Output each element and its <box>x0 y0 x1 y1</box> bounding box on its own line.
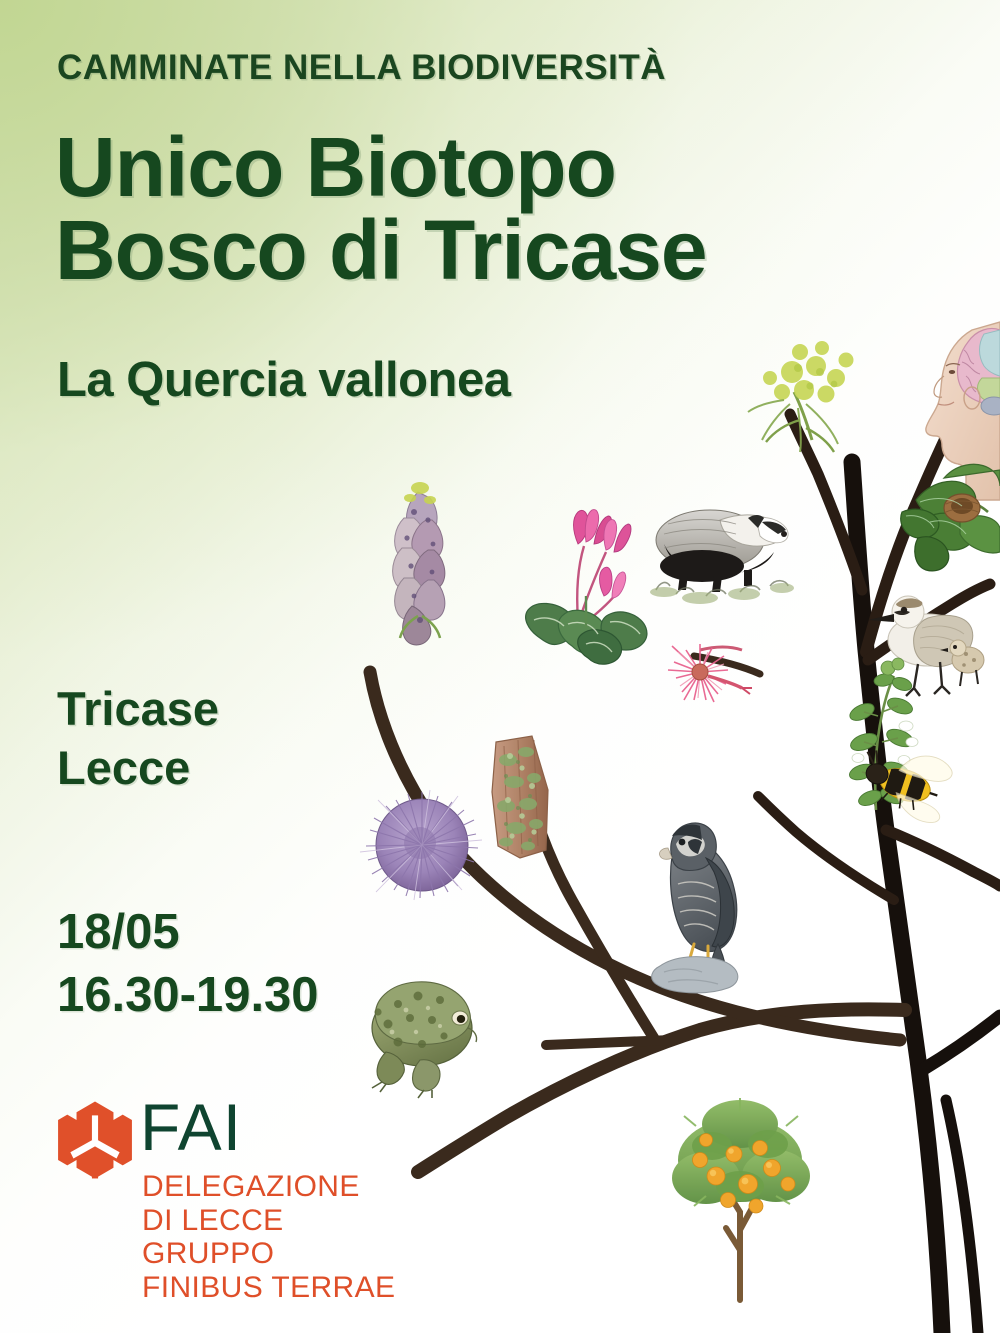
poster-subtitle: La Quercia vallonea <box>57 352 511 408</box>
poster-root: CAMMINATE NELLA BIODIVERSITÀ Unico Bioto… <box>0 0 1000 1333</box>
poster-title-line-2: Bosco di Tricase <box>55 209 707 292</box>
poster-title: Unico Biotopo Bosco di Tricase <box>55 126 707 292</box>
event-date: 18/05 <box>57 901 319 964</box>
poster-kicker: CAMMINATE NELLA BIODIVERSITÀ <box>57 48 666 88</box>
poster-datetime: 18/05 16.30-19.30 <box>57 901 319 1026</box>
poster-title-line-1: Unico Biotopo <box>55 120 616 214</box>
location-province: Lecce <box>57 739 219 798</box>
fai-delegation-line-3: GRUPPO <box>142 1237 395 1271</box>
location-town: Tricase <box>57 680 219 739</box>
fai-hexagon-mark <box>56 1100 134 1180</box>
fai-wordmark: FAI <box>140 1094 242 1160</box>
poster-location: Tricase Lecce <box>57 680 219 798</box>
fai-delegation-line-2: DI LECCE <box>142 1204 395 1238</box>
fai-delegation-line-4: FINIBUS TERRAE <box>142 1271 395 1305</box>
fai-delegation-block: DELEGAZIONE DI LECCE GRUPPO FINIBUS TERR… <box>142 1170 395 1304</box>
event-time: 16.30-19.30 <box>57 964 319 1027</box>
fai-delegation-line-1: DELEGAZIONE <box>142 1170 395 1204</box>
